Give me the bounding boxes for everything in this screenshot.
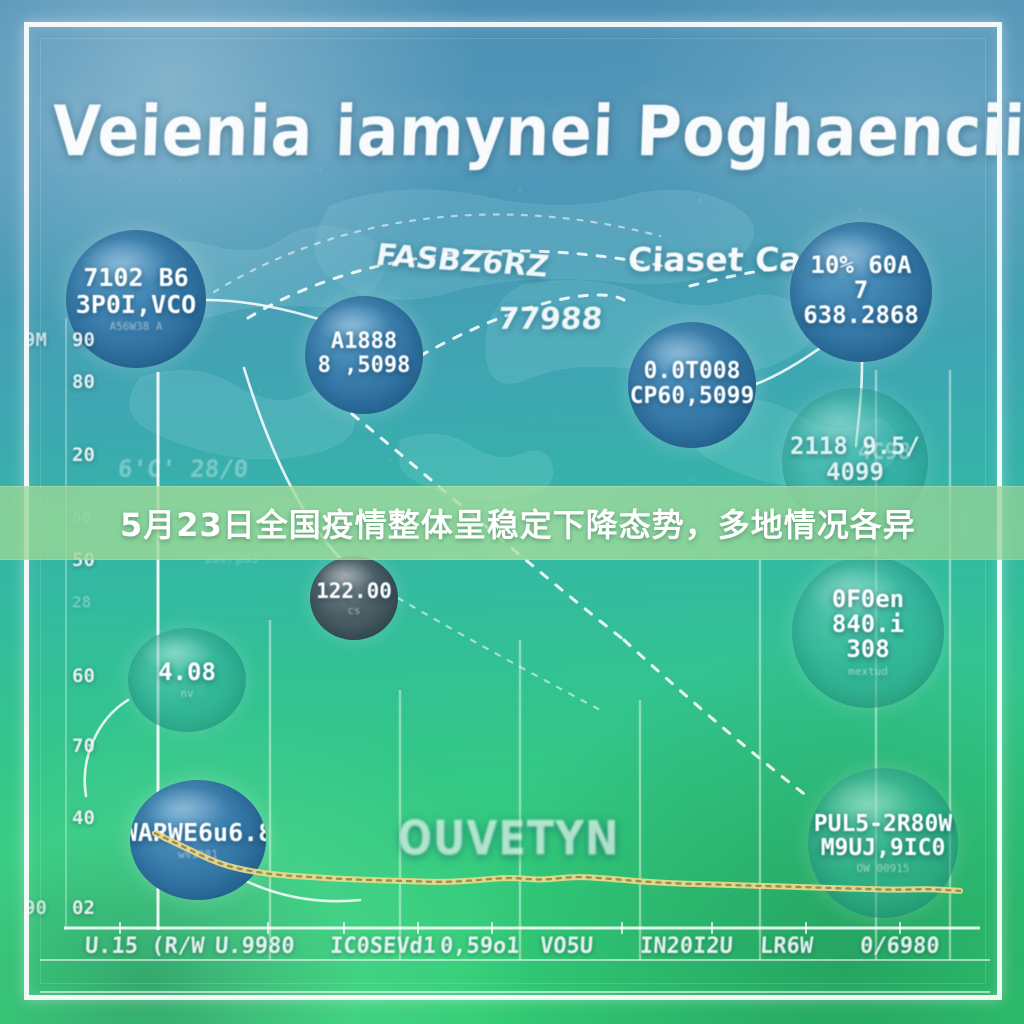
y-axis-tick: 02 <box>72 897 95 919</box>
node-line-3: mextud <box>848 666 888 678</box>
node-line-1: 122.00 <box>316 580 392 602</box>
x-axis-tick: U.15 (R/W <box>84 934 205 959</box>
y-axis-tick: 80 <box>72 371 95 393</box>
x-axis-tick: LR6W <box>759 934 813 959</box>
x-axis-tick: IC0SEVd1 <box>329 934 436 959</box>
node-line-3: cs <box>347 605 360 617</box>
data-node-bubble: 7102 B6 3P0I,VCO A56W38 A <box>66 230 206 368</box>
node-line-1: PUL5-2R80W <box>814 812 952 836</box>
y-axis-tick: 60 <box>72 665 95 687</box>
y-axis-tick: 70 <box>72 735 95 757</box>
y-axis-tick: 40 <box>72 807 95 829</box>
x-axis-tick: IN20I2U <box>639 934 733 959</box>
page-title: Veienia iamynei Poghaenciias imn (Mov-20… <box>50 90 974 198</box>
node-line-3: A56W38 A <box>110 321 163 333</box>
node-line-2: 8 ,5098 <box>318 354 411 377</box>
node-line-3: ws1081 <box>178 849 218 861</box>
y-axis-tick-edge: 9M <box>24 329 47 351</box>
y-axis-tick-edge: 90 <box>24 897 47 919</box>
infographic-canvas: Veienia iamynei Poghaenciias imn (Mov-20… <box>0 0 1024 1024</box>
node-line-2: 7 638.2868 <box>790 278 932 328</box>
data-node-bubble: A1888 8 ,5098 <box>305 296 423 414</box>
node-line-2: CP60,5099 <box>630 384 755 408</box>
node-line-3: OW 00915 <box>857 863 910 875</box>
node-line-1: 0.0T008 <box>644 359 741 383</box>
node-line-3: nv <box>180 688 193 700</box>
node-line-1: 4.08 <box>158 660 216 685</box>
y-axis-tick: 28 <box>72 593 91 612</box>
x-axis-tick: U.9980 <box>214 934 295 959</box>
node-line-2: M9UJ,9IC0 <box>821 836 946 860</box>
headline-banner: 5月23日全国疫情整体呈稳定下降态势，多地情况各异 <box>0 486 1024 560</box>
data-node-bubble: 4.08 nv <box>128 628 246 732</box>
caption-flow: FASBZ6RZ <box>373 238 551 285</box>
node-line-1: 10% 60A <box>810 253 911 278</box>
y-axis-tick: 20 <box>72 444 95 466</box>
data-node-bubble: 122.00 cs <box>310 556 398 640</box>
caption-flow-value: 77988 <box>496 302 603 337</box>
node-line-2: 4099 <box>826 460 884 485</box>
light-bloom-bottom-left <box>0 704 540 1024</box>
data-node-bubble: 10% 60A 7 638.2868 <box>790 222 932 362</box>
artifact-text-left: 6'C' 28/0 <box>117 455 249 483</box>
x-axis-tick: VO5U <box>539 934 593 959</box>
data-node-bubble: WARWE6u6.8 ws1081 <box>130 780 266 900</box>
node-line-1: 0F0en 840.i <box>792 587 944 637</box>
data-node-bubble: 0.0T008 CP60,5099 <box>628 322 756 448</box>
x-axis-tick: 0/6980 <box>859 934 940 959</box>
data-node-bubble: PUL5-2R80W M9UJ,9IC0 OW 00915 <box>808 768 958 918</box>
node-line-2: 308 <box>846 637 889 662</box>
node-line-2: 3P0I,VCO <box>76 292 196 318</box>
data-node-bubble: 0F0en 840.i 308 mextud <box>792 556 944 708</box>
banner-headline-text: 5月23日全国疫情整体呈稳定下降态势，多地情况各异 <box>120 500 916 546</box>
node-line-1: 7102 B6 <box>83 265 188 291</box>
watermark-text: OUVETYN <box>398 812 620 866</box>
node-line-1: WARWE6u6.8 <box>130 820 266 846</box>
node-line-1: 2118 9.5/ <box>790 434 920 459</box>
node-line-1: A1888 <box>331 330 397 353</box>
x-axis-tick: 0,59o1 <box>439 934 520 959</box>
